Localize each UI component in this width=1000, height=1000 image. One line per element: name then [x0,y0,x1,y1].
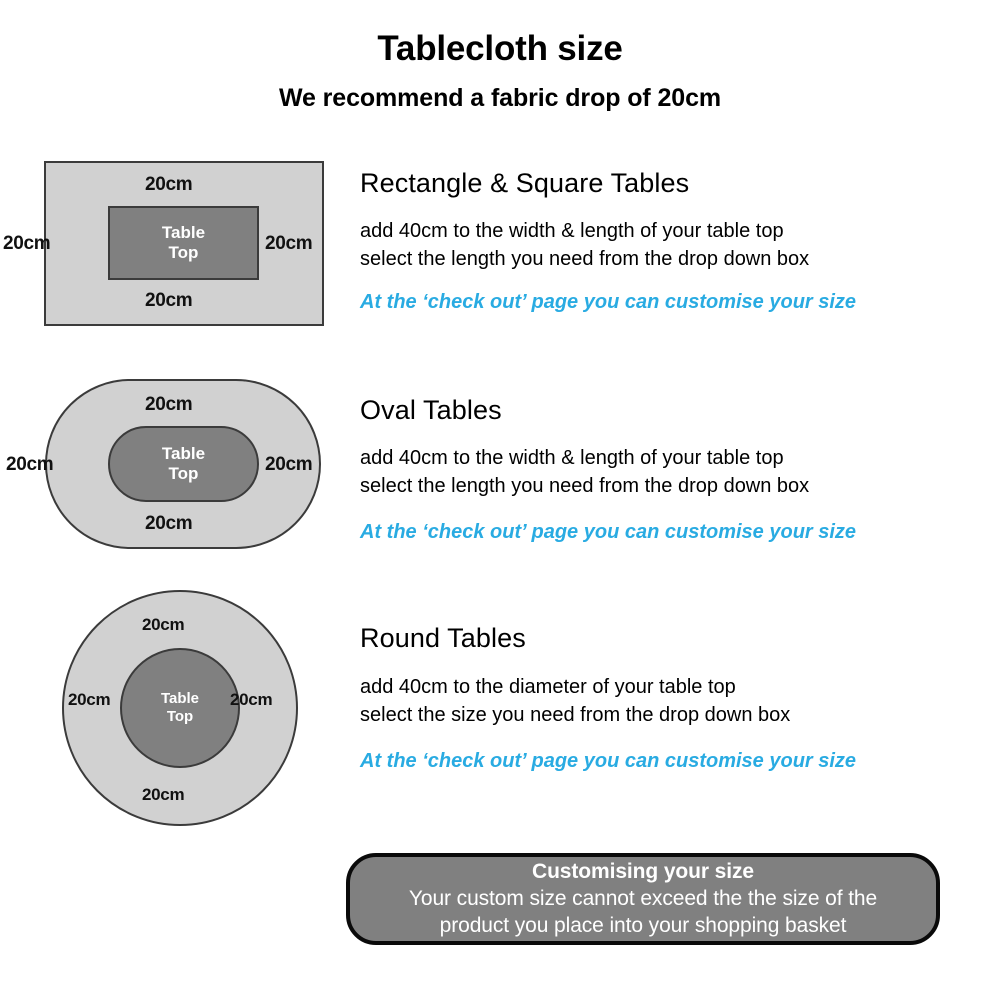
oval-section-text: Oval Tables add 40cm to the width & leng… [360,395,856,544]
rectangle-section-body: add 40cm to the width & length of your t… [360,217,856,274]
round-drop-right-label: 20cm [230,690,272,710]
round-table-diagram: Table Top 20cm 20cm 20cm 20cm [62,590,298,826]
callout-title: Customising your size [532,859,754,885]
round-table-top-shape: Table Top [120,648,240,768]
oval-table-top-shape: Table Top [108,426,259,502]
round-drop-top-label: 20cm [142,615,184,635]
rectangle-drop-top-label: 20cm [145,174,192,196]
round-section-body: add 40cm to the diameter of your table t… [360,673,856,730]
round-section-heading: Round Tables [360,623,856,654]
page-subtitle: We recommend a fabric drop of 20cm [0,84,1000,113]
rectangle-drop-bottom-label: 20cm [145,290,192,312]
oval-checkout-note: At the ‘check out’ page you can customis… [360,521,856,544]
round-checkout-note: At the ‘check out’ page you can customis… [360,750,856,773]
rectangle-section-heading: Rectangle & Square Tables [360,168,856,199]
rectangle-table-top-shape: Table Top [108,206,259,280]
oval-drop-right-label: 20cm [265,454,312,476]
page-title: Tablecloth size [0,29,1000,69]
table-top-label-line1: Table [161,690,199,708]
callout-line-2: product you place into your shopping bas… [440,912,847,939]
oval-body-line-2: select the length you need from the drop… [360,472,856,500]
table-top-label-line2: Top [169,243,199,263]
table-top-label-line2: Top [167,708,193,726]
oval-section-body: add 40cm to the width & length of your t… [360,444,856,501]
oval-section-heading: Oval Tables [360,395,856,426]
round-body-line-2: select the size you need from the drop d… [360,701,856,729]
rectangle-body-line-2: select the length you need from the drop… [360,245,856,273]
callout-line-1: Your custom size cannot exceed the the s… [409,885,877,912]
rectangle-drop-right-label: 20cm [265,233,312,255]
oval-table-diagram: Table Top 20cm 20cm 20cm 20cm [45,379,321,549]
oval-drop-bottom-label: 20cm [145,513,192,535]
rectangle-checkout-note: At the ‘check out’ page you can customis… [360,291,856,314]
round-drop-bottom-label: 20cm [142,785,184,805]
round-drop-left-label: 20cm [68,690,110,710]
oval-drop-top-label: 20cm [145,394,192,416]
table-top-label-line2: Top [169,464,199,484]
rectangle-table-diagram: Table Top 20cm 20cm 20cm 20cm [44,161,324,326]
table-top-label-line1: Table [162,444,205,464]
round-section-text: Round Tables add 40cm to the diameter of… [360,623,856,773]
rectangle-drop-left-label: 20cm [3,233,50,255]
oval-drop-left-label: 20cm [6,454,53,476]
table-top-label-line1: Table [162,223,205,243]
oval-body-line-1: add 40cm to the width & length of your t… [360,444,856,472]
rectangle-section-text: Rectangle & Square Tables add 40cm to th… [360,168,856,314]
rectangle-body-line-1: add 40cm to the width & length of your t… [360,217,856,245]
customising-your-size-callout: Customising your size Your custom size c… [346,853,940,945]
round-body-line-1: add 40cm to the diameter of your table t… [360,673,856,701]
